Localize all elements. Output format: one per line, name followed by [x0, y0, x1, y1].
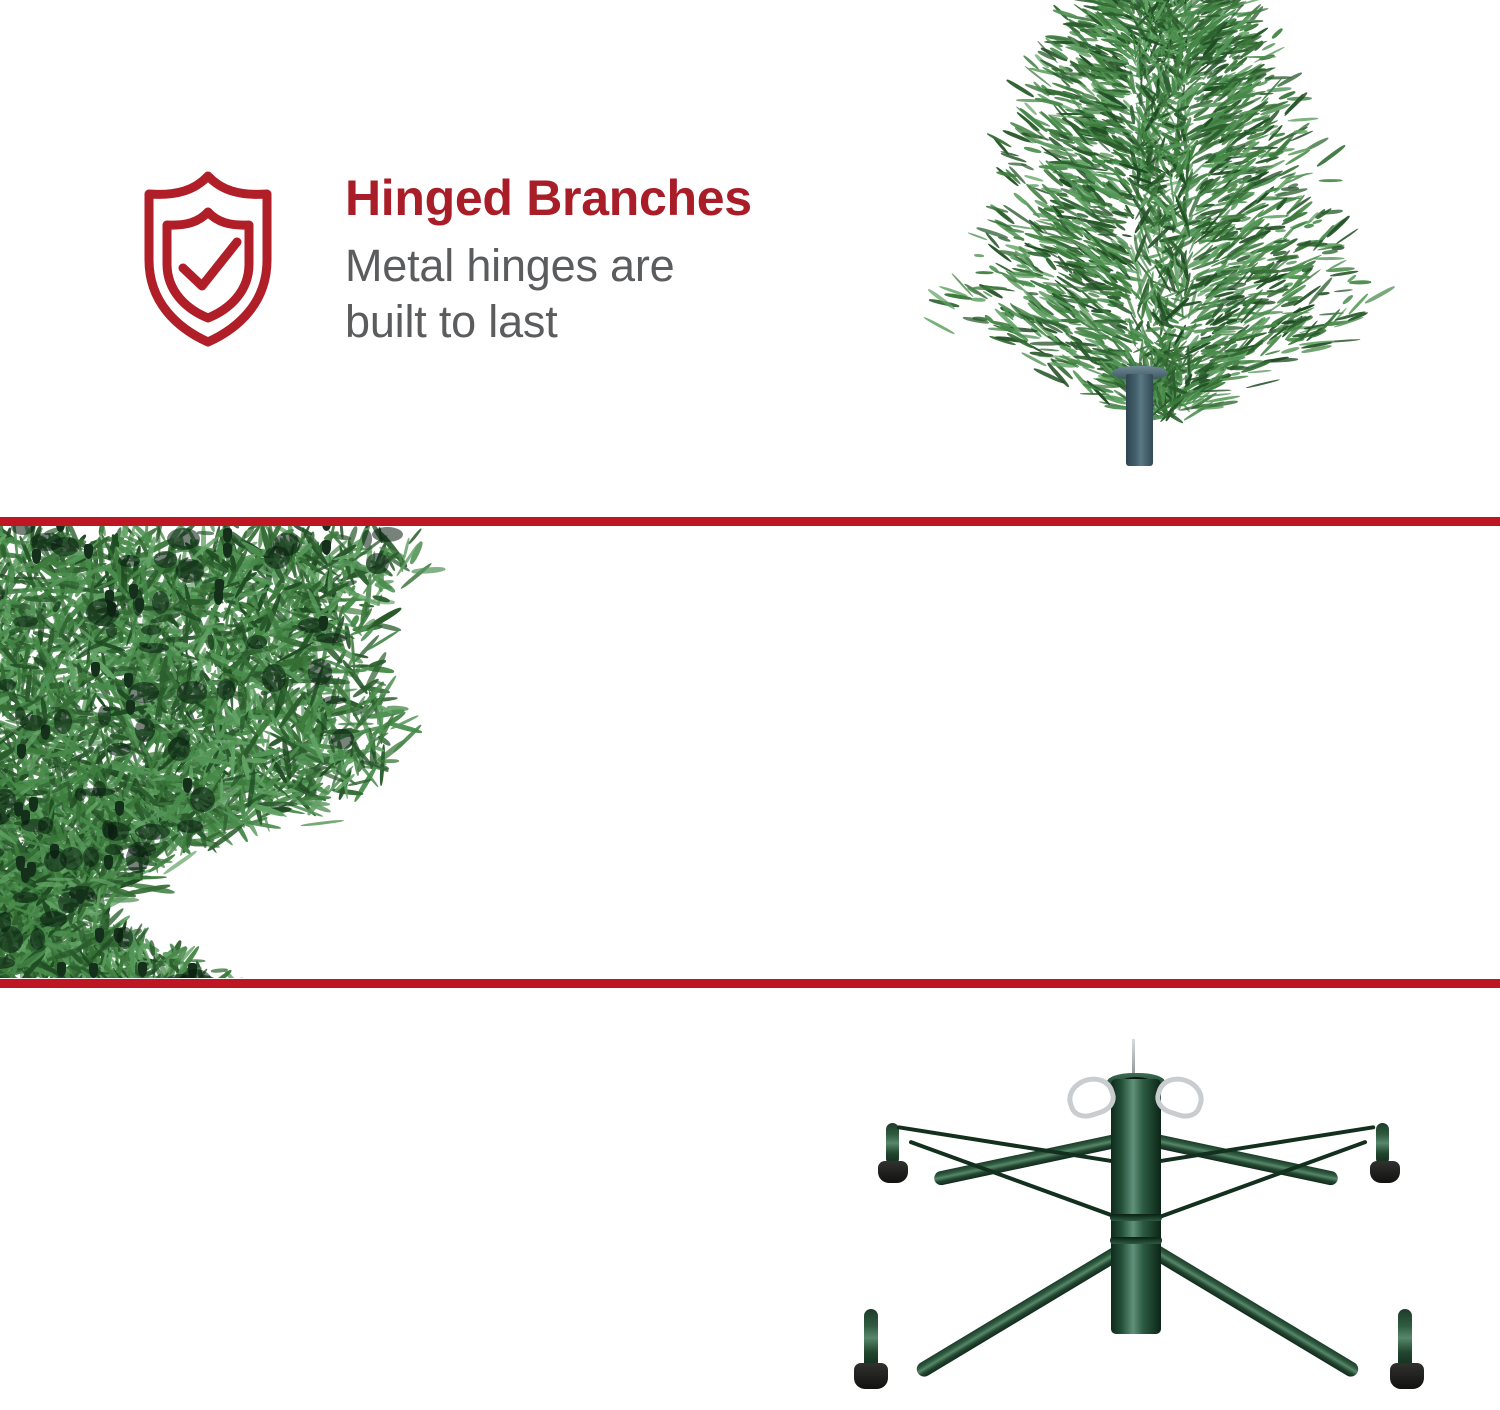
- feature-text-hinged-branches: Hinged Branches Metal hinges are built t…: [345, 172, 752, 350]
- tree-needle: [970, 297, 985, 302]
- feature-title: Hinged Branches: [345, 172, 752, 225]
- tree-needle: [1111, 82, 1124, 87]
- tree-needle: [1342, 294, 1354, 306]
- divider-top: [0, 517, 1500, 526]
- tree-needle: [944, 293, 972, 301]
- pvc-branch-tips-closeup-photo: [0, 526, 580, 978]
- feature-infographic: Hinged Branches Metal hinges are built t…: [0, 0, 1500, 1410]
- tree-needle: [1122, 233, 1133, 237]
- tree-needle: [1258, 92, 1274, 95]
- tree-needle: [1304, 223, 1315, 229]
- feature-panel-pvc-tips: PVC Tips Flame-retardant and easy to flu…: [0, 526, 1500, 978]
- feature-panel-hinged-branches: Hinged Branches Metal hinges are built t…: [0, 0, 1500, 522]
- tree-needle: [1316, 144, 1346, 168]
- tree-needle: [1012, 192, 1028, 207]
- tree-center-pole: [1126, 374, 1153, 466]
- tree-needle: [1265, 350, 1281, 356]
- shield-check-icon: [133, 168, 283, 348]
- tree-needle: [974, 254, 984, 257]
- tree-needle: [1294, 129, 1308, 133]
- feature-description: Metal hinges are built to last: [345, 238, 752, 350]
- feature-description-line: Metal hinges are: [345, 238, 752, 294]
- tree-needle: [1296, 242, 1327, 247]
- tree-needle: [1348, 280, 1370, 284]
- tree-needle: [1318, 179, 1342, 183]
- tree-needle: [923, 316, 955, 335]
- tree-needle: [1364, 285, 1396, 305]
- tree-needle: [1246, 378, 1280, 388]
- tree-needle: [1030, 341, 1064, 345]
- tree-needle: [1085, 282, 1105, 286]
- tree-needle: [1254, 300, 1276, 304]
- christmas-tree-top-with-pole-photo: [880, 0, 1440, 522]
- tree-needle: [1275, 229, 1286, 233]
- tree-foliage: [930, 0, 1390, 390]
- tree-needle: [1024, 174, 1044, 182]
- tree-needle: [1280, 346, 1299, 355]
- tree-needle: [1288, 117, 1319, 123]
- tree-needle: [1023, 146, 1042, 154]
- tree-needle: [1271, 27, 1284, 39]
- feature-description-line: built to last: [345, 294, 752, 350]
- tree-needle: [1334, 289, 1353, 293]
- tree-needle: [1101, 202, 1114, 207]
- tree-needle: [1020, 163, 1034, 171]
- tree-needle: [994, 270, 1005, 275]
- tree-needle: [976, 271, 994, 274]
